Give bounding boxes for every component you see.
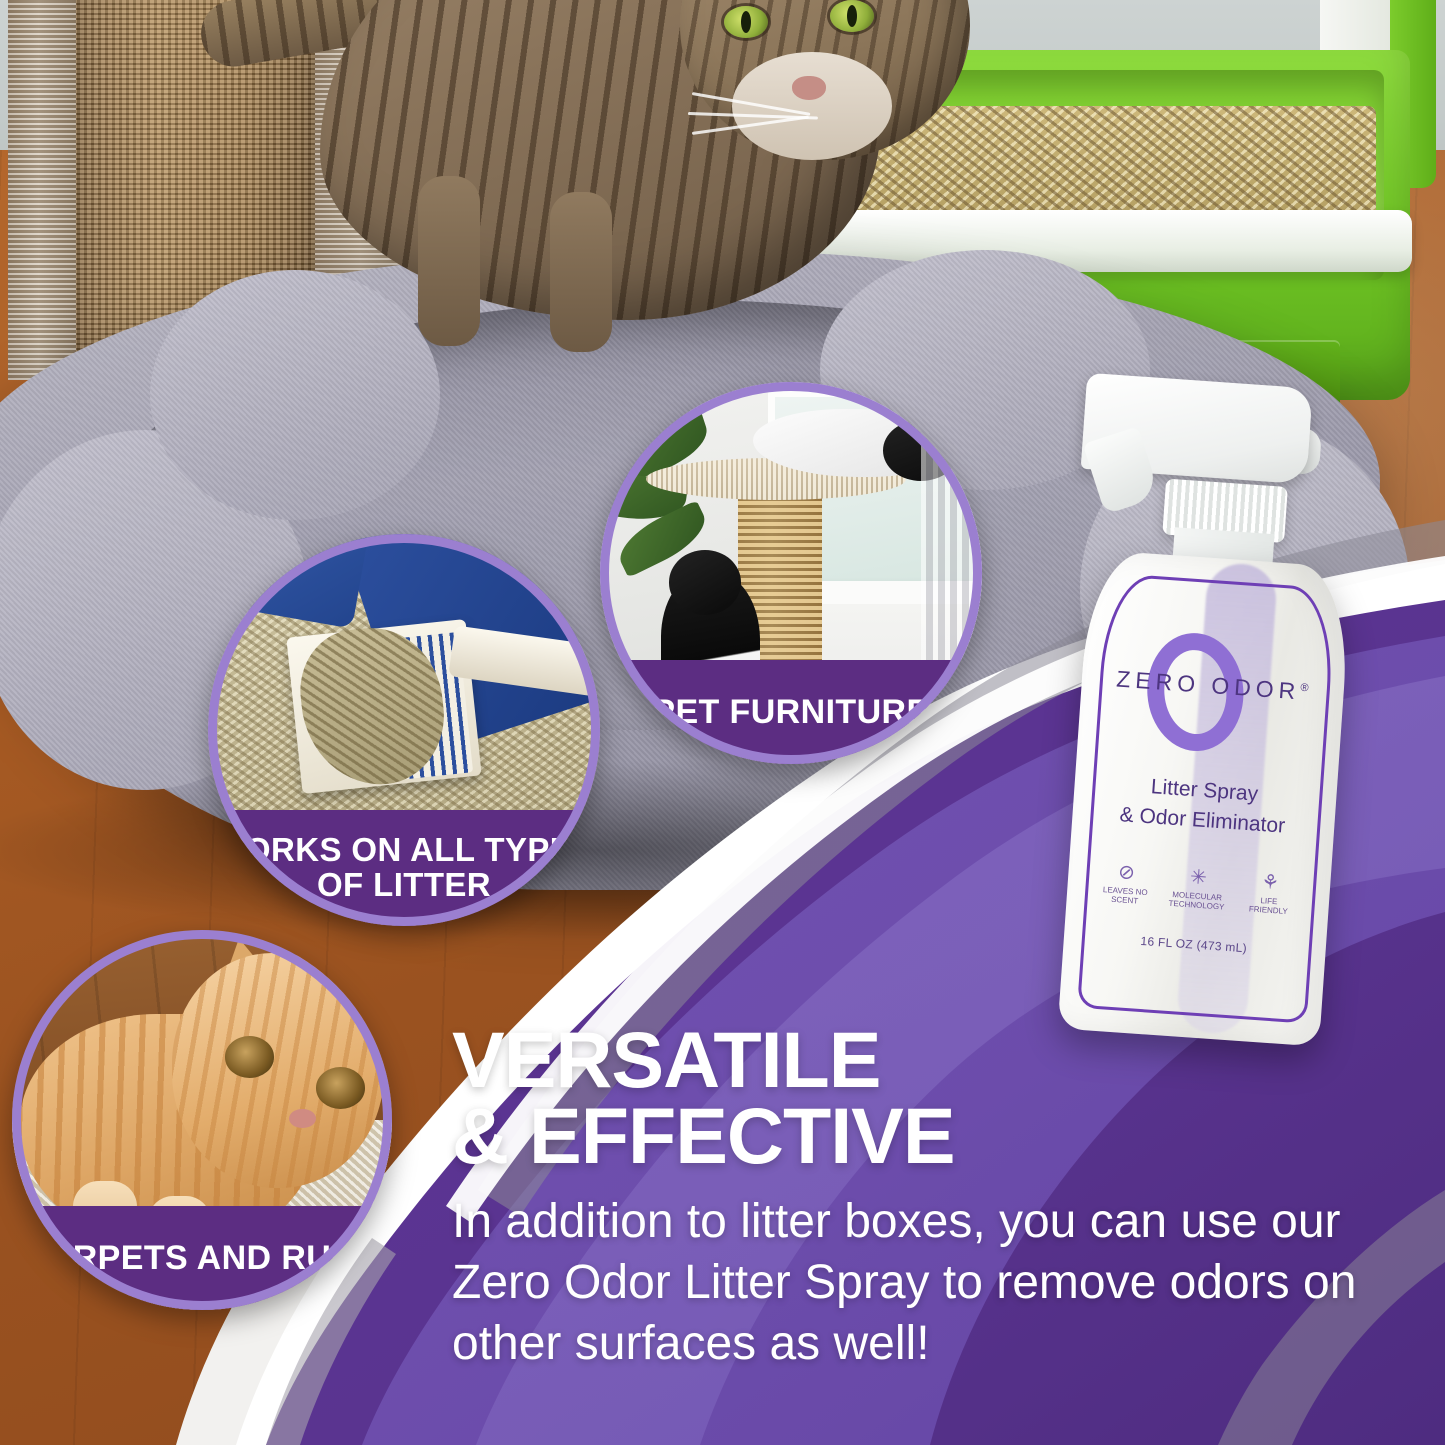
badge-carpets-and-rugs[interactable]: CARPETS AND RUGS: [12, 930, 392, 1310]
badge-works-on-all-types-of-litter[interactable]: WORKS ON ALL TYPES OF LITTER: [208, 534, 600, 926]
kitten-eye-right: [316, 1067, 365, 1109]
registered-mark: ®: [1300, 682, 1314, 695]
claim-molecular: ✳ MOLECULAR TECHNOLOGY: [1165, 866, 1230, 913]
kitten-eye-left: [225, 1036, 274, 1078]
product-spray-bottle[interactable]: ZERO ODOR® Litter Spray & Odor Eliminato…: [1035, 372, 1380, 1051]
badge-caption-litter: WORKS ON ALL TYPES OF LITTER: [208, 810, 600, 926]
life-friendly-icon: ⚘: [1239, 871, 1302, 895]
claim-no-scent: ⊘ LEAVES NO SCENT: [1093, 861, 1158, 908]
claim-life-friendly: ⚘ LIFE FRIENDLY: [1237, 871, 1302, 918]
litter-box-blue-edge-2: [208, 534, 375, 629]
badge-caption-carpets: CARPETS AND RUGS: [12, 1206, 392, 1310]
headline-line1: VERSATILE: [452, 1022, 1092, 1098]
molecule-icon: ✳: [1167, 866, 1230, 890]
no-scent-icon: ⊘: [1095, 861, 1158, 885]
badge-caption-pet-furniture: PET FURNITURE: [600, 660, 982, 764]
spray-trigger: [1081, 373, 1313, 485]
badge-pet-furniture[interactable]: PET FURNITURE: [600, 382, 982, 764]
headline-line2: & EFFECTIVE: [452, 1098, 1092, 1174]
kitten-nose: [289, 1109, 316, 1128]
product-infographic: WORKS ON ALL TYPES OF LITTER PET FURNITU…: [0, 0, 1445, 1445]
subcopy: In addition to litter boxes, you can use…: [452, 1192, 1372, 1375]
tuxedo-cat-head-bottom: [669, 550, 742, 615]
headline: VERSATILE & EFFECTIVE: [452, 1022, 1092, 1174]
claim-0-line2: SCENT: [1111, 895, 1139, 906]
